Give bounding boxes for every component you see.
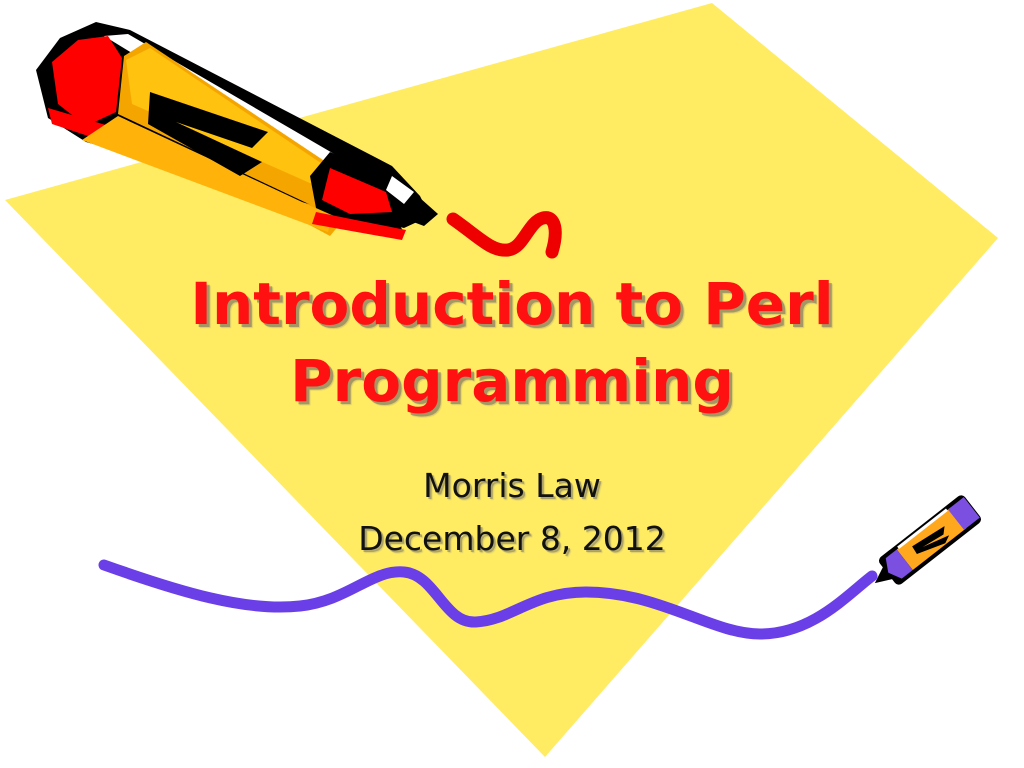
small-marker-pen (864, 493, 983, 596)
slide-artwork (0, 0, 1024, 768)
slide-canvas: Introduction to Perl Programming Morris … (0, 0, 1024, 768)
